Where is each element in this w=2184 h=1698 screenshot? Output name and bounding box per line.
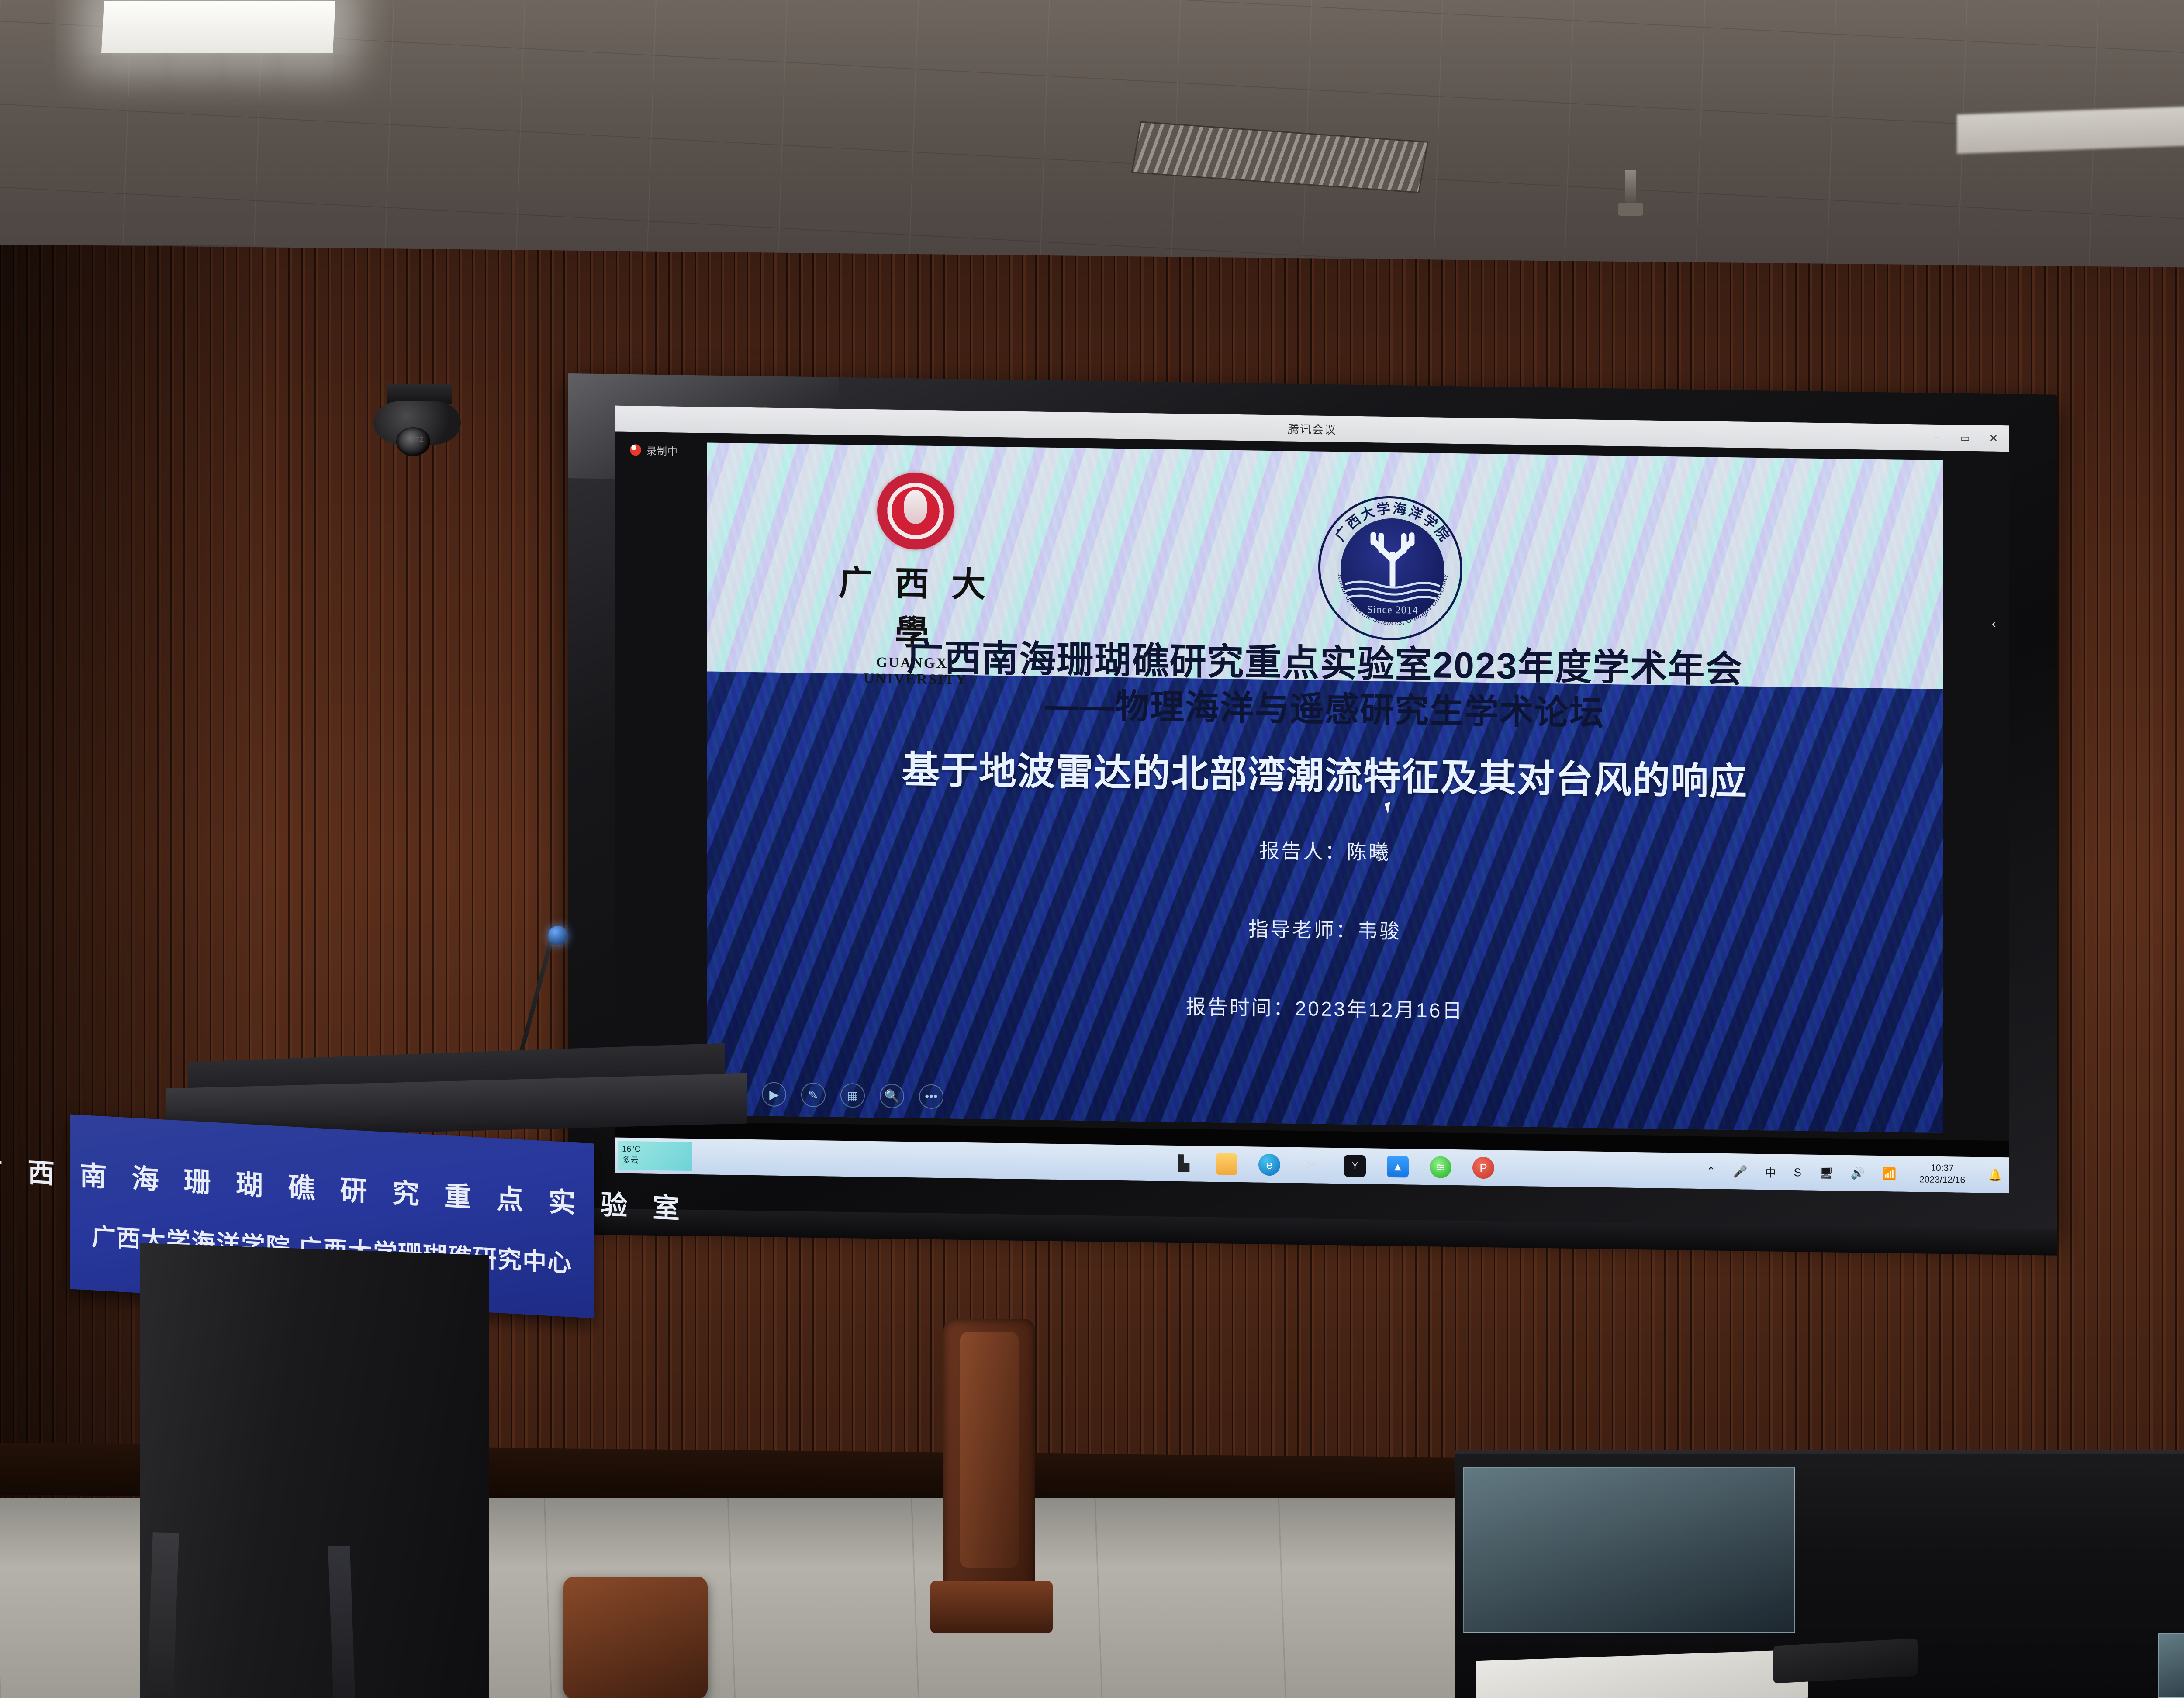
sogou-pinyin-icon[interactable]: S — [1794, 1166, 1801, 1179]
chair-seat-foreground — [563, 1577, 708, 1698]
minimize-icon[interactable]: – — [1935, 431, 1941, 444]
system-tray[interactable]: ⌃ 🎤 中 S 🖥 🔊 📶 10:37 2023/12/16 🔔 — [1706, 1159, 2002, 1187]
notifications-bell-icon[interactable]: 🔔 — [1988, 1168, 2002, 1182]
pen-tool-button[interactable]: ✎ — [801, 1083, 826, 1108]
camera-label: PTZ — [373, 436, 461, 443]
chair-backrest — [943, 1319, 1035, 1590]
file-explorer-icon[interactable] — [1216, 1153, 1237, 1175]
glass-divider-panel — [1463, 1467, 1795, 1633]
wooden-chair-foreground — [563, 1577, 708, 1698]
dark-app-icon[interactable]: Y — [1344, 1155, 1366, 1177]
recording-indicator: 录制中 — [630, 442, 678, 458]
network-icon[interactable]: 📶 — [1882, 1167, 1896, 1180]
slide-report-time: 报告时间：2023年12月16日 — [707, 984, 1943, 1031]
display-screen: 腾讯会议 – ▭ ✕ 录制中 ‹ — [615, 406, 2009, 1194]
slide-topic-title: 基于地波雷达的北部湾潮流特征及其对台风的响应 — [707, 736, 1943, 809]
slide-grid-button[interactable]: ▦ — [840, 1083, 865, 1108]
maximize-icon[interactable]: ▭ — [1960, 431, 1970, 444]
slide-advisor: 指导老师：韦骏 — [707, 906, 1943, 953]
taskbar-clock[interactable]: 10:37 2023/12/16 — [1914, 1162, 1971, 1187]
volume-icon[interactable]: 🔊 — [1851, 1167, 1865, 1180]
glass-divider-panel-right — [2158, 1633, 2184, 1698]
powerpoint-presenter-toolbar[interactable]: ▶ ✎ ▦ 🔍 ••• — [762, 1082, 943, 1109]
tencent-meeting-body: 录制中 ‹ 广 西 大 學 GUANGXI UNIVERSITY — [615, 432, 2009, 1141]
sidebar-collapse-chevron-icon[interactable]: ‹ — [1992, 618, 1996, 631]
powerpoint-icon[interactable]: P — [1472, 1157, 1494, 1179]
window-title: 腾讯会议 — [1288, 420, 1337, 437]
chair-seat — [930, 1581, 1053, 1633]
shared-powerpoint-slide: 广 西 大 學 GUANGXI UNIVERSITY 广西大学海洋学院 — [707, 443, 1943, 1133]
input-method-icon[interactable]: 中 — [1765, 1164, 1776, 1180]
display-settings-icon[interactable]: 🖥 — [1819, 1166, 1833, 1179]
slide-text-block: 广西南海珊瑚礁研究重点实验室2023年度学术年会 ——物理海洋与遥感研究生学术论… — [707, 443, 1943, 1133]
ptz-camera: PTZ — [373, 384, 461, 459]
start-button-icon[interactable] — [1130, 1152, 1152, 1174]
next-slide-button[interactable]: ▶ — [762, 1082, 786, 1107]
recording-label: 录制中 — [646, 443, 678, 458]
microphone-icon[interactable]: 🎤 — [1733, 1165, 1747, 1178]
recording-dot-icon — [630, 444, 641, 456]
wall-display: 腾讯会议 – ▭ ✕ 录制中 ‹ — [568, 373, 2057, 1236]
task-view-icon[interactable]: ▙ — [1173, 1153, 1195, 1175]
slide-presenter: 报告人：陈曦 — [707, 827, 1943, 874]
zoom-button[interactable]: 🔍 — [880, 1084, 904, 1108]
snipaste-icon[interactable]: ✂ — [1301, 1154, 1323, 1177]
ceiling-light-panel — [101, 1, 335, 53]
device-on-table — [1773, 1638, 1918, 1683]
wooden-chair — [926, 1319, 1053, 1698]
sprinkler-head — [1625, 170, 1636, 210]
conference-room: PTZ 腾讯会议 – ▭ ✕ 录制中 ‹ — [0, 0, 2184, 1698]
more-options-button[interactable]: ••• — [919, 1084, 943, 1109]
clock-time: 10:37 — [1914, 1162, 1971, 1175]
wechat-icon[interactable]: ≋ — [1430, 1156, 1451, 1178]
podium-body — [140, 1243, 489, 1698]
tencent-meeting-taskbar-icon[interactable]: ▲ — [1387, 1156, 1409, 1178]
close-icon[interactable]: ✕ — [1989, 432, 1998, 445]
podium-sign-line-1: 广 西 南 海 珊 瑚 礁 研 究 重 点 实 验 室 — [0, 1147, 688, 1226]
show-hidden-icons-chevron-up-icon[interactable]: ⌃ — [1706, 1164, 1716, 1178]
microphone-head-icon — [548, 926, 567, 945]
edge-browser-icon[interactable]: e — [1258, 1154, 1280, 1176]
window-controls[interactable]: – ▭ ✕ — [1935, 424, 1998, 452]
taskbar-app-icons[interactable]: ▙ e ✂ Y ▲ ≋ P — [1130, 1152, 1494, 1179]
clock-date: 2023/12/16 — [1914, 1174, 1971, 1187]
